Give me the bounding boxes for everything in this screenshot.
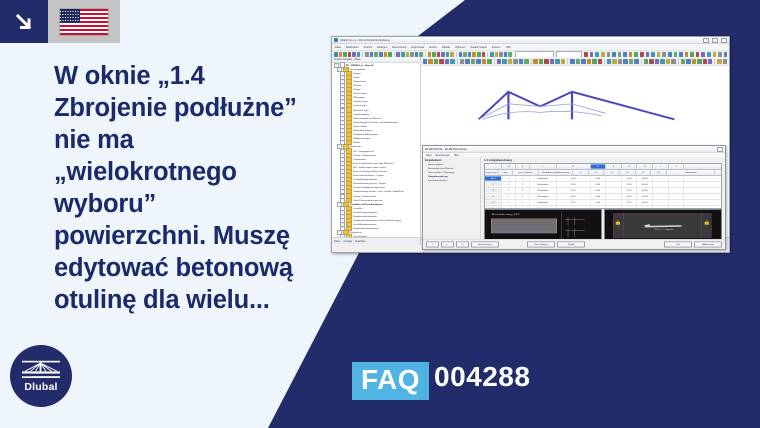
toolbar-separator <box>641 59 642 64</box>
toolbar-icon[interactable] <box>703 59 707 64</box>
toolbar-icon[interactable] <box>618 59 622 64</box>
toolbar-icon[interactable] <box>612 59 616 64</box>
menu-item[interactable]: Einfügen <box>377 46 387 49</box>
tree-item-label: Steifigkeiten/Bettungen <box>353 133 378 136</box>
tree-item-label: Lastfall/Kombinationen <box>353 178 377 181</box>
tree-item-label: Freie Flächenlasten gesetzt <box>353 199 382 202</box>
toolbar-separator <box>714 59 715 64</box>
dialog-sidebar-item-durchstanzknoten[interactable]: Durchstanzknoten <box>425 179 479 182</box>
table-cell[interactable] <box>653 176 669 180</box>
table-cell[interactable]: 2,00 <box>557 188 591 192</box>
toolbar-icon[interactable] <box>519 59 523 64</box>
table-cell[interactable]: 2,00 <box>557 194 591 198</box>
toolbar-icon[interactable] <box>592 59 596 64</box>
tree-item-label: Linienfreigaben <box>353 113 369 116</box>
us-flag-icon <box>60 9 108 35</box>
menu-item[interactable]: Tabelle <box>442 46 450 49</box>
dialog-graphics-button[interactable]: Grafik <box>557 241 585 247</box>
table-cell[interactable]: 4,00 <box>591 194 607 198</box>
tree-item-label: Kombinationsbeiwerte <box>353 215 377 218</box>
table-row-header[interactable]: 5 <box>485 200 502 204</box>
table-cell[interactable]: 40,00 <box>637 182 653 186</box>
table-column-letter[interactable] <box>485 164 502 168</box>
table-header-cell: Längs- bew. <box>485 170 499 174</box>
member-graphic: Pos. 1 - a/gam <box>605 210 721 241</box>
dialog-details-button[interactable]: Det. Zeilung <box>527 241 555 247</box>
tree-item-label: Linien-Lager <box>353 105 366 108</box>
toolbar-separator <box>531 59 532 64</box>
table-column-letter[interactable]: B <box>516 164 530 168</box>
table-cell[interactable]: 2,00 <box>557 176 591 180</box>
faq-badge: FAQ <box>352 362 429 400</box>
toolbar-separator <box>567 59 568 64</box>
toolbar-icon[interactable] <box>686 59 690 64</box>
toolbar-icon[interactable] <box>539 59 543 64</box>
cross-section-graphic: Bewehrung 1/2 <box>485 210 601 241</box>
dialog-calculate-button[interactable]: Berechnung <box>471 241 499 247</box>
minimize-icon[interactable] <box>703 38 709 43</box>
table-cell[interactable]: 1 <box>502 194 516 198</box>
svg-text:Pos. 1 - a/gam: Pos. 1 - a/gam <box>655 229 673 230</box>
table-header-cell: c1 <box>573 170 589 174</box>
toolbar-icon[interactable] <box>660 59 664 64</box>
toolbar-icon[interactable] <box>445 59 449 64</box>
toolbar-icon[interactable] <box>434 59 438 64</box>
toolbar-icon[interactable] <box>581 59 585 64</box>
toolbar-icon[interactable] <box>587 59 591 64</box>
table-cell[interactable] <box>669 176 685 180</box>
table-cell[interactable]: 40,00 <box>637 188 653 192</box>
toolbar-icon[interactable] <box>576 59 580 64</box>
table-cell[interactable]: 1 <box>516 188 530 192</box>
app-toolbar-row2[interactable] <box>421 57 729 66</box>
table-cell[interactable] <box>669 188 685 192</box>
toolbar-icon[interactable] <box>487 59 491 64</box>
table-cell[interactable]: 4,00 <box>591 200 607 204</box>
toolbar-separator <box>604 59 605 64</box>
toolbar-icon[interactable] <box>570 59 574 64</box>
tree-item-label: LF1 - Eigengewicht <box>353 150 374 153</box>
table-cell[interactable] <box>653 188 669 192</box>
toolbar-icon[interactable] <box>723 59 727 64</box>
table-cell[interactable]: 2,00 <box>557 182 591 186</box>
table-cell[interactable]: 2,00 <box>622 176 638 180</box>
close-icon[interactable] <box>721 38 727 43</box>
tree-item-label: Stäbe/Linien <box>353 80 366 83</box>
table-row-header[interactable]: 2 <box>485 182 502 186</box>
tree-item-label: Lastfallkombinationen <box>353 223 376 226</box>
tree-item-label: RF - RFEM 5.xx - Bau.rf5 <box>346 64 374 67</box>
table-cell[interactable]: 1 <box>516 200 530 204</box>
table-rows[interactable]: No.111Vorhanden2,004,002,0040,00211Vorha… <box>485 176 721 209</box>
toolbar-icon[interactable] <box>460 59 464 64</box>
language-arrow-box[interactable] <box>0 0 48 43</box>
dialog-section-title: 1.4 Längsbewehrung <box>481 157 725 162</box>
tree-item-label: Freie Linienlasten (eine oder Flächen) <box>353 162 393 165</box>
table-column-letter[interactable]: H <box>637 164 653 168</box>
table-cell[interactable] <box>606 200 622 204</box>
table-cell[interactable]: Vorhanden <box>530 200 557 204</box>
app-menubar[interactable]: Datei Bearbeiten Ansicht Einfügen Berech… <box>332 44 729 51</box>
table-cell[interactable]: Vorhanden <box>530 176 557 180</box>
navigator-tab-ansichten[interactable]: Ansichten <box>355 240 366 243</box>
menu-item[interactable]: Optionen <box>455 46 466 49</box>
toolbar-icon[interactable] <box>544 59 548 64</box>
dlubal-logo-text: Dlubal <box>24 381 57 393</box>
menu-item[interactable]: Ansicht <box>364 46 373 49</box>
reinforcement-table[interactable]: ABCDEFGHIJ Längs- bew.LageQuer- flächenB… <box>484 163 722 209</box>
menu-item[interactable]: Hilfe <box>506 46 511 49</box>
graphics-panes: Bewehrung 1/2 <box>484 209 722 242</box>
toolbar-icon[interactable] <box>497 59 501 64</box>
toolbar-icon[interactable] <box>607 59 611 64</box>
table-column-letter[interactable]: I <box>653 164 669 168</box>
table-cell[interactable] <box>606 176 622 180</box>
tree-item-label: Freie rechteckige Flächenlasten <box>353 170 387 173</box>
toolbar-separator <box>457 59 458 64</box>
table-header-cell: c4 <box>620 170 636 174</box>
toolbar-icon[interactable] <box>634 59 638 64</box>
toolbar-icon[interactable] <box>508 59 512 64</box>
navigator-tab-anzeige[interactable]: Anzeige <box>343 240 352 243</box>
table-header-cell: c6 <box>651 170 667 174</box>
maximize-icon[interactable] <box>712 38 718 43</box>
toolbar-icon[interactable] <box>450 59 454 64</box>
app-titlebar: RFEM 5.xx.xx - [RF-CONCRETE Surfaces] <box>332 37 729 44</box>
tree-item-label: Ergebniskombinationen und Lastfall-Grupp… <box>353 219 401 222</box>
table-cell[interactable] <box>606 188 622 192</box>
toolbar-icon[interactable] <box>524 59 528 64</box>
table-column-letter[interactable]: A <box>502 164 516 168</box>
dialog-body: Eingabedaten Basisangaben Materialien un… <box>423 157 725 240</box>
screenshot-root: RFEM 5.xx.xx - [RF-CONCRETE Surfaces] Da… <box>0 0 760 428</box>
table-header-cell: c5 <box>636 170 652 174</box>
table-header-cell: c2 <box>589 170 605 174</box>
dialog-sidebar-item-materialien[interactable]: Materialien und Flächen <box>425 167 479 170</box>
tree-item-label: Querschnitte <box>353 92 367 95</box>
toolbar-icon[interactable] <box>561 59 565 64</box>
table-cell[interactable]: 40,00 <box>637 200 653 204</box>
dialog-sidebar[interactable]: Eingabedaten Basisangaben Materialien un… <box>423 157 481 240</box>
toolbar-icon[interactable] <box>533 59 537 64</box>
tree-item-label: Knoten <box>353 72 361 75</box>
table-cell[interactable]: Vorhanden <box>530 194 557 198</box>
table-cell[interactable]: 2,00 <box>622 188 638 192</box>
table-cell[interactable]: 1 <box>516 194 530 198</box>
tree-item-label: Lastfälle und Kombinationen <box>350 203 383 206</box>
toolbar-icon[interactable] <box>681 59 685 64</box>
dialog-title: RF-BETON Flä. - RF-BETON Flächen <box>425 148 467 151</box>
tree-item-label: Körper <box>353 88 360 91</box>
dialog-sidebar-header: Eingabedaten <box>425 159 479 162</box>
table-cell[interactable]: 1 <box>502 176 516 180</box>
table-cell[interactable] <box>669 182 685 186</box>
toolbar-icon[interactable] <box>465 59 469 64</box>
table-column-letter[interactable]: E <box>591 164 607 168</box>
table-header-cell: Quer- flächen <box>513 170 540 174</box>
toolbar-icon[interactable] <box>439 59 443 64</box>
table-cell[interactable]: 1 <box>502 188 516 192</box>
menu-item[interactable]: Datei <box>335 46 341 49</box>
window-controls[interactable] <box>703 38 727 43</box>
tree-item-label: Materialkennlinien <box>353 129 372 132</box>
navigator-tabs[interactable]: Daten Anzeige Ansichten <box>332 237 420 245</box>
navigator-tab-daten[interactable]: Daten <box>334 240 340 243</box>
application-window: RFEM 5.xx.xx - [RF-CONCRETE Surfaces] Da… <box>331 36 730 253</box>
toolbar-icon[interactable] <box>671 59 675 64</box>
table-cell[interactable]: 1 <box>516 176 530 180</box>
tree-item-label: Basisangaben <box>350 68 365 71</box>
toolbar-icon[interactable] <box>598 59 602 64</box>
dialog-cancel-button[interactable]: Abbrechen <box>694 241 722 247</box>
menu-item[interactable]: Fenster <box>492 46 501 49</box>
tree-item-label: Linienlasten <box>353 158 366 161</box>
tree-item-label: Flächen <box>353 84 362 87</box>
table-cell[interactable]: 40,00 <box>637 194 653 198</box>
truss-diagonals <box>479 104 606 119</box>
tree-item-label: Ergebniskombinationen <box>353 228 378 231</box>
table-cell[interactable]: Vorhanden <box>530 182 557 186</box>
menu-item[interactable]: Zusatzmodule <box>470 46 486 49</box>
toolbar-separator <box>494 59 495 64</box>
dialog-content: 1.4 Längsbewehrung ABCDEFGHIJ Längs- bew… <box>481 157 725 240</box>
arrow-down-right-icon <box>13 11 35 33</box>
dialog-help-button[interactable]: ? <box>426 241 439 247</box>
dialog-sidebar-item-laengsbewehrung[interactable]: Längsbewehrung <box>425 175 479 178</box>
app-icon <box>334 38 338 42</box>
table-row-header[interactable]: 4 <box>485 194 502 198</box>
table-column-letter[interactable]: C <box>530 164 557 168</box>
table-cell[interactable] <box>606 182 622 186</box>
page-title: W oknie „1.4 Zbrojenie podłużne” nie ma … <box>54 60 322 316</box>
tree-item-label: RF - Stabil: trapez oder Lasten <box>353 166 386 169</box>
toolbar-icon[interactable] <box>550 59 554 64</box>
tree-item-label: Flächen-/Stabilisierungslasten <box>353 187 385 190</box>
graphic-label: Bewehrung 1/2 <box>492 213 520 215</box>
tree-item-label: Flächen-Lager <box>353 109 368 112</box>
tree-item-label: Verbindungen Flächen- und Stabelemente <box>353 121 398 124</box>
table-cell[interactable]: 40,00 <box>637 176 653 180</box>
table-cell[interactable]: 1 <box>502 200 516 204</box>
toolbar-icon[interactable] <box>644 59 648 64</box>
toolbar-icon[interactable] <box>623 59 627 64</box>
toolbar-icon[interactable] <box>655 59 659 64</box>
cross-section-pane[interactable]: Bewehrung 1/2 <box>484 209 602 242</box>
table-header-cell: Kommentar <box>667 170 716 174</box>
tree-item-label: Stabilisierung/ Knoten, Last-, Kombi, St… <box>353 191 404 194</box>
toolbar-icon[interactable] <box>471 59 475 64</box>
table-cell[interactable] <box>669 194 685 198</box>
menu-item[interactable]: Berechnung <box>392 46 406 49</box>
tree-item-label: Knoten-Lager <box>353 101 368 104</box>
toolbar-icon[interactable] <box>629 59 633 64</box>
toolbar-icon[interactable] <box>482 59 486 64</box>
table-header-cell: Lage <box>499 170 513 174</box>
table-column-letter[interactable]: G <box>622 164 638 168</box>
menu-item[interactable]: Ergebnisse <box>411 46 424 49</box>
navigator-tree[interactable]: +RF - RFEM 5.xx - Bau.rf5+Basisangaben+K… <box>332 62 420 238</box>
tree-item-label: Freie Flächenlasten - Trapez <box>353 174 383 177</box>
toolbar-icon[interactable] <box>692 59 696 64</box>
project-navigator: Projekt-Navigator - Daten +RF - RFEM 5.x… <box>332 57 421 245</box>
dialog-refresh-button[interactable]: ⟳ <box>456 241 469 247</box>
toolbar-icon[interactable] <box>717 59 721 64</box>
toolbar-icon[interactable] <box>502 59 506 64</box>
table-header-cell: Betondeckung Bemessung <box>539 170 573 174</box>
toolbar-icon[interactable] <box>666 59 670 64</box>
toolbar-icon[interactable] <box>513 59 517 64</box>
tree-item-label: Lastfälle <box>353 207 362 210</box>
table-cell[interactable]: 4,00 <box>591 188 607 192</box>
dlubal-logo[interactable]: Dlubal <box>10 345 72 407</box>
tree-item-label: Einwirkungskategorien <box>353 211 377 214</box>
truss-frame <box>479 92 675 120</box>
menu-item[interactable]: Bearbeiten <box>346 46 359 49</box>
tree-item-label: Raster <box>353 142 360 145</box>
table-header-cell: c3 <box>604 170 620 174</box>
tree-item-label: Exzentrizitäten für Flächen <box>353 117 381 120</box>
tree-item-label: Öffnungen <box>353 97 364 100</box>
menu-item[interactable]: Extras <box>429 46 436 49</box>
table-cell[interactable]: 4,00 <box>591 176 607 180</box>
toolbar-icon[interactable] <box>428 59 432 64</box>
table-column-letter[interactable]: D <box>557 164 591 168</box>
member-view-pane[interactable]: Pos. 1 - a/gam <box>604 209 722 242</box>
faq-number: 004288 <box>434 362 530 392</box>
tree-item-label: Knoten, Knotenlasten <box>353 154 376 157</box>
toolbar-icon[interactable] <box>423 59 427 64</box>
table-cell[interactable]: 4,00 <box>591 182 607 186</box>
toolbar-separator <box>678 59 679 64</box>
table-cell[interactable]: 2,00 <box>622 182 638 186</box>
dlubal-bridge-icon <box>22 360 60 379</box>
toolbar-icon[interactable] <box>476 59 480 64</box>
dialog-ok-button[interactable]: OK <box>664 241 692 247</box>
dialog-close-icon[interactable] <box>717 147 723 152</box>
bridge-mark <box>22 360 60 379</box>
tree-item-label: Querschnitte <box>353 125 367 128</box>
table-column-letter[interactable]: F <box>606 164 622 168</box>
dialog-zoom-button[interactable]: ⌕ <box>441 241 454 247</box>
table-cell[interactable]: Vorhanden <box>530 188 557 192</box>
table-column-letter[interactable]: J <box>669 164 685 168</box>
app-title: RFEM 5.xx.xx - [RF-CONCRETE Surfaces] <box>340 39 390 42</box>
tree-item-label: Linien <box>353 76 359 79</box>
toolbar-icon[interactable] <box>649 59 653 64</box>
rf-beton-dialog: RF-BETON Flä. - RF-BETON Flächen Datei E… <box>422 145 726 250</box>
table-cell[interactable]: 2,00 <box>622 194 638 198</box>
table-cell[interactable] <box>653 200 669 204</box>
dialog-sidebar-item-querschnitte[interactable]: Querschnitte / Öffnungen <box>425 171 479 174</box>
dialog-footer[interactable]: ? ⌕ ⟳ Berechnung Det. Zeilung Grafik OK … <box>423 239 725 249</box>
table-cell[interactable]: 1 <box>516 182 530 186</box>
table-cell[interactable] <box>606 194 622 198</box>
dialog-titlebar: RF-BETON Flä. - RF-BETON Flächen <box>423 146 725 153</box>
dialog-sidebar-item-basisangaben[interactable]: Basisangaben <box>425 163 479 166</box>
table-row-header[interactable]: No.1 <box>485 176 502 180</box>
flag-canton <box>60 9 80 23</box>
table-cell[interactable] <box>653 194 669 198</box>
dialog-footer-right[interactable]: OK Abbrechen <box>664 241 722 248</box>
toolbar-icon[interactable] <box>697 59 701 64</box>
table-cell[interactable]: 2,00 <box>622 200 638 204</box>
tree-item-label: Flächenlasten gesetzt - Trapez <box>353 182 386 185</box>
language-flag-box[interactable] <box>48 0 120 43</box>
table-row-header[interactable]: 3 <box>485 188 502 192</box>
tree-item-label: Knoten, Knotenlasten <box>353 195 376 198</box>
toolbar-icon[interactable] <box>555 59 559 64</box>
table-cell[interactable] <box>669 200 685 204</box>
toolbar-icon[interactable] <box>708 59 712 64</box>
table-cell[interactable]: 2,00 <box>557 200 591 204</box>
tree-item-label: Stabilisierungen <box>353 137 370 140</box>
table-cell[interactable]: 1 <box>502 182 516 186</box>
table-cell[interactable] <box>653 182 669 186</box>
